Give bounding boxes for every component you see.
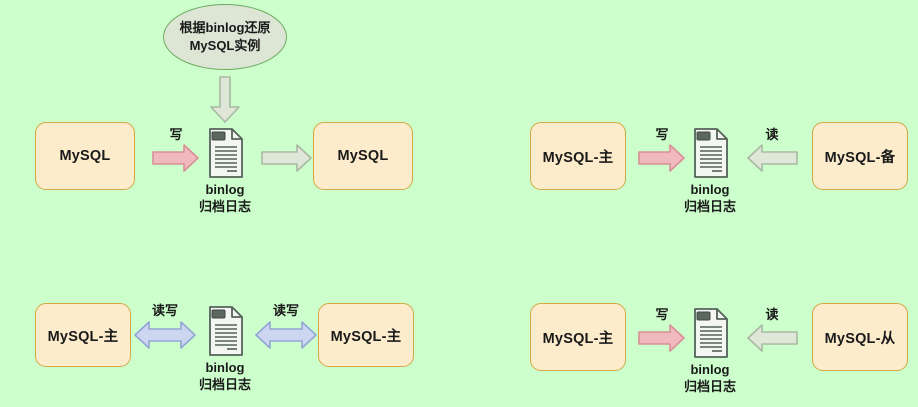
binlog-document-top-right: binlog 归档日志 xyxy=(680,127,740,216)
write-arrow-top-right xyxy=(638,144,686,172)
node-bottom-left-primary-b[interactable]: MySQL-主 xyxy=(318,303,414,367)
binlog-document-top-left: binlog 归档日志 xyxy=(195,127,255,216)
binlog-document-bottom-left: binlog 归档日志 xyxy=(195,305,255,394)
restore-note-line-2: MySQL实例 xyxy=(190,37,261,55)
node-top-left-target[interactable]: MySQL xyxy=(313,122,413,190)
restore-note-line-1: 根据binlog还原 xyxy=(180,19,271,37)
binlog-caption: binlog 归档日志 xyxy=(199,182,251,216)
node-label: MySQL xyxy=(338,148,389,164)
node-label: MySQL-主 xyxy=(543,146,614,167)
binlog-caption: binlog 归档日志 xyxy=(199,360,251,394)
binlog-caption: binlog 归档日志 xyxy=(684,362,736,396)
document-icon xyxy=(204,305,246,357)
node-label: MySQL-主 xyxy=(48,325,119,346)
document-icon xyxy=(204,127,246,179)
write-arrow-label-bottom-right: 写 xyxy=(638,304,686,323)
restore-note-ellipse: 根据binlog还原 MySQL实例 xyxy=(163,4,287,70)
node-bottom-left-primary-a[interactable]: MySQL-主 xyxy=(35,303,131,367)
write-arrow-top-left xyxy=(152,144,200,172)
document-icon xyxy=(689,307,731,359)
read-arrow-label-bottom-right: 读 xyxy=(746,304,798,323)
readwrite-arrow-label-bottom-left-a: 读写 xyxy=(134,300,196,319)
binlog-caption-line-1: binlog xyxy=(684,362,736,379)
readwrite-arrow-bottom-left-b xyxy=(255,320,317,350)
binlog-caption-line-1: binlog xyxy=(199,360,251,377)
node-top-left-source[interactable]: MySQL xyxy=(35,122,135,190)
node-bottom-right-replica[interactable]: MySQL-从 xyxy=(812,303,908,371)
node-top-right-primary[interactable]: MySQL-主 xyxy=(530,122,626,190)
binlog-caption-line-2: 归档日志 xyxy=(199,199,251,216)
binlog-caption-line-2: 归档日志 xyxy=(684,199,736,216)
document-icon xyxy=(689,127,731,179)
readwrite-arrow-bottom-left-a xyxy=(134,320,196,350)
readwrite-arrow-label-bottom-left-b: 读写 xyxy=(255,300,317,319)
node-top-right-standby[interactable]: MySQL-备 xyxy=(812,122,908,190)
node-label: MySQL-从 xyxy=(825,327,896,348)
binlog-caption-line-2: 归档日志 xyxy=(684,379,736,396)
node-label: MySQL-主 xyxy=(331,325,402,346)
node-label: MySQL-备 xyxy=(825,146,896,167)
binlog-caption: binlog 归档日志 xyxy=(684,182,736,216)
node-bottom-right-primary[interactable]: MySQL-主 xyxy=(530,303,626,371)
read-arrow-label-top-right: 读 xyxy=(746,124,798,143)
read-arrow-bottom-right xyxy=(746,324,798,352)
diagram-canvas: 根据binlog还原 MySQL实例 MySQL 写 xyxy=(0,0,918,407)
binlog-document-bottom-right: binlog 归档日志 xyxy=(680,307,740,396)
restore-arrow-top-left xyxy=(261,144,313,172)
write-arrow-label-top-left: 写 xyxy=(152,124,200,143)
node-label: MySQL-主 xyxy=(543,327,614,348)
binlog-caption-line-1: binlog xyxy=(199,182,251,199)
read-arrow-top-right xyxy=(746,144,798,172)
write-arrow-label-top-right: 写 xyxy=(638,124,686,143)
binlog-caption-line-2: 归档日志 xyxy=(199,377,251,394)
write-arrow-bottom-right xyxy=(638,324,686,352)
node-label: MySQL xyxy=(60,148,111,164)
binlog-caption-line-1: binlog xyxy=(684,182,736,199)
restore-down-arrow xyxy=(209,76,241,124)
